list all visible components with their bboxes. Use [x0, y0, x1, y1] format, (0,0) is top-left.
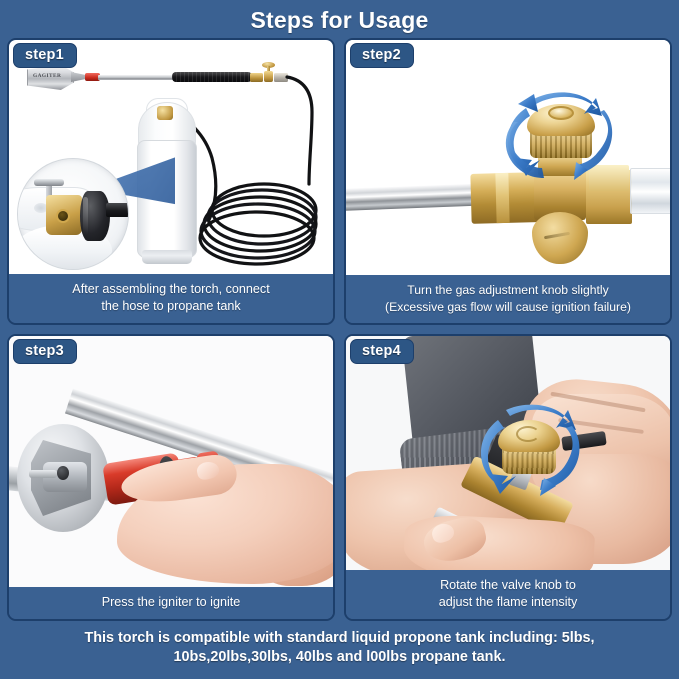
gas-adjustment-valve-illustration — [346, 40, 670, 275]
torch-assembly-illustration: GAGITER — [9, 40, 333, 274]
page-title: Steps for Usage — [0, 0, 679, 42]
magnified-valve-inset — [17, 158, 129, 270]
step-panel-4[interactable]: step4 — [344, 334, 672, 621]
step-caption-3-line1: Press the igniter to ignite — [15, 594, 327, 611]
step-caption-4-line1: Rotate the valve knob to — [352, 577, 664, 594]
step-caption-2-line1: Turn the gas adjustment knob slightly — [350, 282, 666, 298]
clear-connector-icon — [630, 168, 670, 214]
step-caption-2: Turn the gas adjustment knob slightly (E… — [346, 275, 670, 323]
step-caption-2-line2: (Excessive gas flow will cause ignition … — [350, 299, 666, 315]
torch-pin-dot-icon — [57, 466, 69, 480]
valve-lower-body-icon — [532, 212, 588, 264]
tank-base-icon — [142, 250, 192, 264]
compatibility-note: This torch is compatible with standard l… — [0, 619, 679, 679]
compatibility-note-line2: 10bs,20lbs,30lbs, 40lbs and l00lbs propa… — [18, 648, 661, 667]
step-caption-1-line1: After assembling the torch, connect — [15, 281, 327, 298]
rotate-valve-knob-illustration — [346, 336, 670, 570]
step-photo-1: GAGITER — [9, 40, 333, 274]
step-panel-1[interactable]: step1 GAGITER — [7, 38, 335, 325]
tank-valve-icon — [157, 106, 173, 120]
step-photo-2 — [346, 40, 670, 275]
step-caption-4-line2: adjust the flame intensity — [352, 594, 664, 611]
step-caption-4: Rotate the valve knob to adjust the flam… — [346, 570, 670, 619]
inset-valve-port-icon — [56, 209, 70, 223]
step-caption-1-line2: the hose to propane tank — [15, 298, 327, 315]
step-caption-1: After assembling the torch, connect the … — [9, 274, 333, 323]
press-igniter-illustration — [9, 336, 333, 587]
step-badge-3: step3 — [13, 339, 77, 364]
step-badge-4: step4 — [350, 339, 414, 364]
rotation-arrows-icon — [468, 396, 592, 500]
step-panel-3[interactable]: step3 Press — [7, 334, 335, 621]
rotation-arrows-icon — [492, 82, 630, 186]
inset-hose-stub-icon — [106, 203, 129, 217]
step-caption-3: Press the igniter to ignite — [9, 587, 333, 619]
steps-grid: step1 GAGITER — [7, 38, 672, 621]
step-badge-1: step1 — [13, 43, 77, 68]
compatibility-note-line1: This torch is compatible with standard l… — [18, 629, 661, 648]
step-badge-2: step2 — [350, 43, 414, 68]
step-photo-4 — [346, 336, 670, 570]
torch-pin-icon — [29, 470, 57, 478]
step-photo-3 — [9, 336, 333, 587]
step-panel-2[interactable]: step2 — [344, 38, 672, 325]
